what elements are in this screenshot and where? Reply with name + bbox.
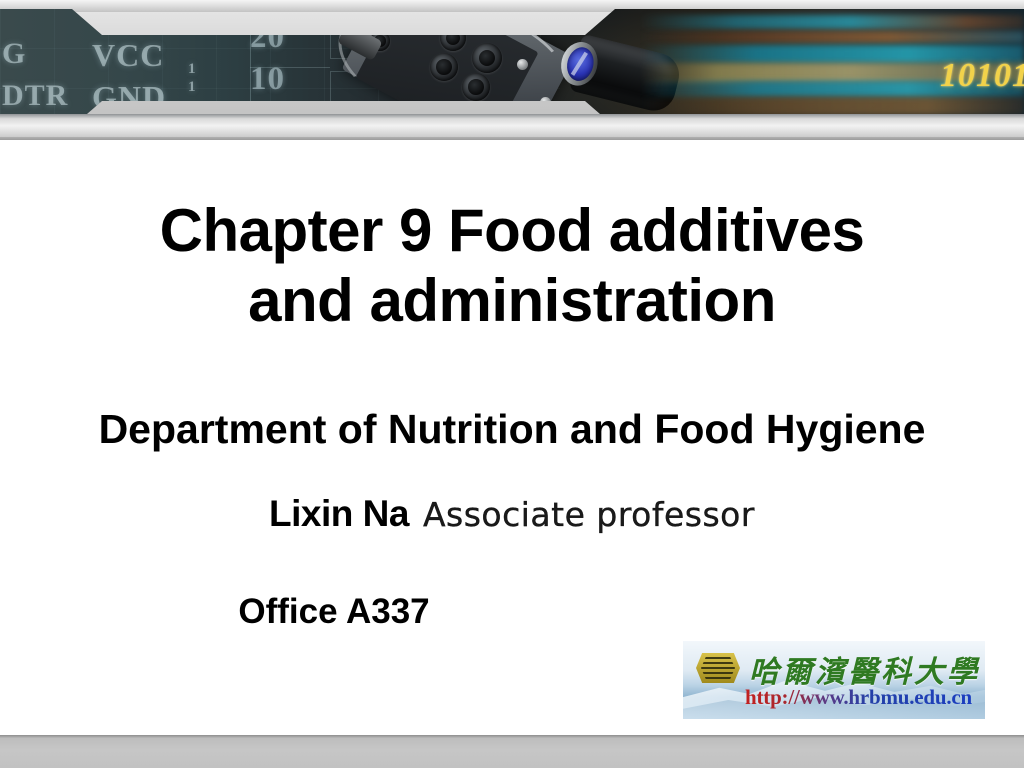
presenter-name: Lixin Na bbox=[269, 493, 409, 534]
chip-label-gnd: GND bbox=[92, 79, 166, 116]
schematic-label-20: 20 bbox=[250, 19, 285, 56]
streak bbox=[640, 15, 1024, 29]
streak bbox=[640, 31, 1024, 43]
chip-label-vcc: VCC bbox=[92, 37, 164, 74]
university-emblem-icon bbox=[696, 653, 740, 683]
slide-title: Chapter 9 Food additives and administrat… bbox=[0, 196, 1024, 336]
presenter-academic-title: Associate professor bbox=[423, 495, 755, 534]
chip-label-g: G bbox=[2, 37, 26, 71]
streak bbox=[640, 97, 1024, 115]
slide-title-line-1: Chapter 9 Food additives bbox=[0, 196, 1024, 266]
banner-photo-panel: G VCC DTR GND 20 10 1 1 bbox=[0, 9, 1024, 127]
presenter-line: Lixin NaAssociate professor bbox=[0, 493, 1024, 535]
schematic-label-10: 10 bbox=[250, 61, 285, 98]
university-logo: 哈爾濱醫科大學 http://www.hrbmu.edu.cn bbox=[683, 641, 985, 719]
header-banner: G VCC DTR GND 20 10 1 1 bbox=[0, 0, 1024, 140]
slide-root: G VCC DTR GND 20 10 1 1 bbox=[0, 0, 1024, 768]
slide-title-line-2: and administration bbox=[0, 266, 1024, 336]
chip-label-dtr: DTR bbox=[2, 79, 68, 113]
university-url: http://www.hrbmu.edu.cn bbox=[745, 685, 972, 710]
light-streaks: 10101 bbox=[640, 9, 1024, 127]
department-subtitle: Department of Nutrition and Food Hygiene bbox=[0, 406, 1024, 453]
schematic-label-1-upper: 1 bbox=[188, 61, 197, 78]
banner-bottom-chrome bbox=[0, 114, 1024, 140]
binary-text: 10101 bbox=[940, 57, 1024, 95]
schematic-label-1-lower: 1 bbox=[188, 79, 197, 96]
footer-bar bbox=[0, 735, 1024, 768]
office-location: Office A337 bbox=[0, 592, 846, 632]
